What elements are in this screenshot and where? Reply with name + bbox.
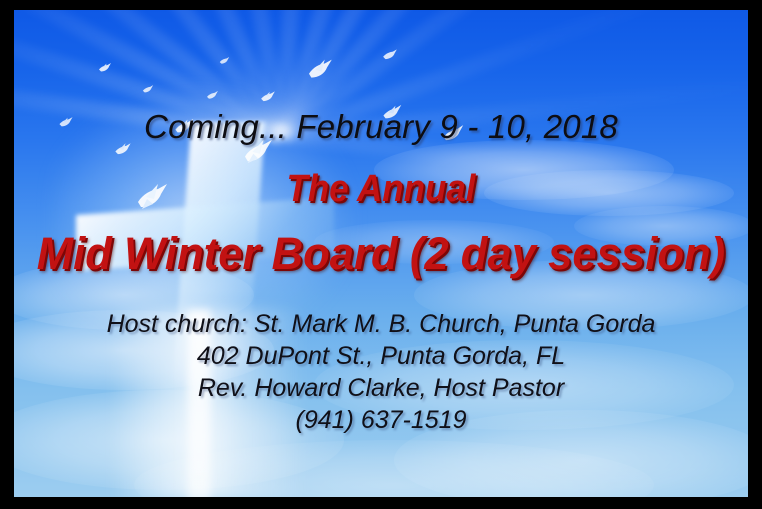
sky-background: Coming... February 9 - 10, 2018 The Annu… [14, 10, 748, 497]
poster-frame: Coming... February 9 - 10, 2018 The Annu… [0, 0, 762, 509]
poster-text-layer: Coming... February 9 - 10, 2018 The Annu… [14, 10, 748, 497]
detail-address: 402 DuPont St., Punta Gorda, FL [14, 342, 748, 371]
detail-phone: (941) 637-1519 [14, 406, 748, 435]
title-line-1: The Annual [43, 168, 718, 211]
detail-pastor: Rev. Howard Clarke, Host Pastor [14, 374, 748, 403]
title-line-2: Mid Winter Board (2 day session) [25, 228, 737, 280]
detail-host-church: Host church: St. Mark M. B. Church, Punt… [14, 310, 748, 339]
headline-date: Coming... February 9 - 10, 2018 [14, 108, 748, 146]
